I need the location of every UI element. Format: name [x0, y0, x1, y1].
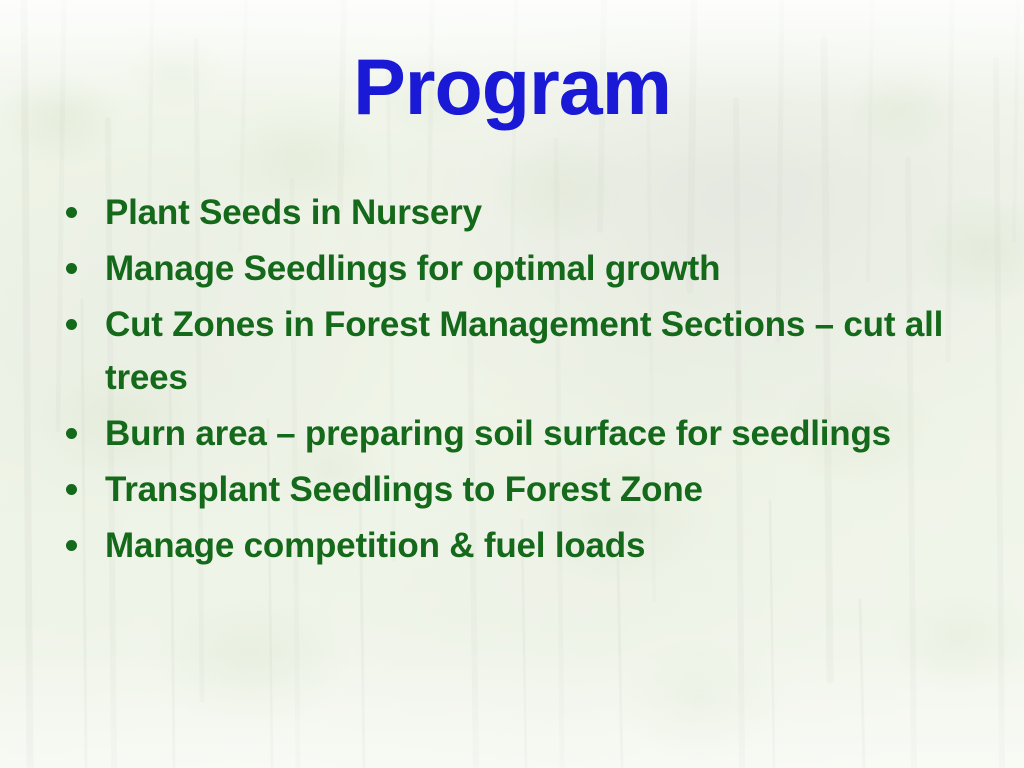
bullet-dot-icon [66, 484, 77, 495]
list-item-label: Burn area – preparing soil surface for s… [105, 407, 977, 460]
list-item-label: Plant Seeds in Nursery [105, 186, 977, 239]
bullet-list: Plant Seeds in Nursery Manage Seedlings … [57, 186, 977, 575]
list-item: Transplant Seedlings to Forest Zone [57, 463, 977, 516]
list-item: Cut Zones in Forest Management Sections … [57, 298, 977, 404]
list-item: Manage competition & fuel loads [57, 519, 977, 572]
list-item-label: Manage competition & fuel loads [105, 519, 977, 572]
bullet-dot-icon [66, 319, 77, 330]
presentation-slide: Program Plant Seeds in Nursery Manage Se… [0, 0, 1024, 768]
page-title: Program [0, 46, 1024, 129]
bullet-dot-icon [66, 428, 77, 439]
bullet-dot-icon [66, 207, 77, 218]
list-item-label: Cut Zones in Forest Management Sections … [105, 298, 977, 404]
list-item-label: Manage Seedlings for optimal growth [105, 242, 977, 295]
list-item: Manage Seedlings for optimal growth [57, 242, 977, 295]
bullet-dot-icon [66, 263, 77, 274]
list-item: Burn area – preparing soil surface for s… [57, 407, 977, 460]
slide-content: Program Plant Seeds in Nursery Manage Se… [0, 0, 1024, 768]
list-item-label: Transplant Seedlings to Forest Zone [105, 463, 977, 516]
bullet-dot-icon [66, 540, 77, 551]
list-item: Plant Seeds in Nursery [57, 186, 977, 239]
